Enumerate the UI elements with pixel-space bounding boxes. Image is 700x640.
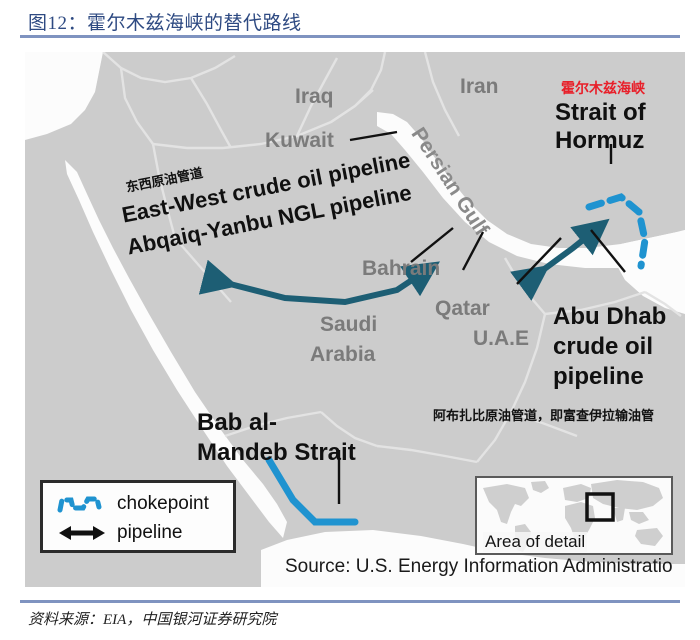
figure-title: 图12：霍尔木兹海峡的替代路线 [28,8,302,35]
map-label-hormuz-cn: 霍尔木兹海峡 [561,82,645,97]
map-label-bab-line2: Mandeb Strait [197,440,356,465]
map-label-qatar: Qatar [435,298,490,320]
map-label-abu-dhabi-line3: pipeline [553,364,644,389]
map-label-uae: U.A.E [473,328,529,350]
legend-item-pipeline: pipeline [55,521,183,545]
map-label-bab-line1: Bab al- [197,410,277,435]
chokepoint-squiggle-icon [55,492,109,516]
map-label-hormuz-line1: Strait of [555,100,646,125]
map-label-abu-dhabi-cn: 阿布扎比原油管道，即富查伊拉输油管 [433,410,654,424]
title-divider-top [20,35,680,38]
map-label-iran: Iran [460,76,499,98]
source-divider-bottom [20,600,680,603]
legend-label-pipeline: pipeline [117,522,183,544]
map-label-iraq: Iraq [295,86,334,108]
map-source-attribution: Source: U.S. Energy Information Administ… [285,557,673,577]
map-label-saudi-line2: Arabia [310,344,375,366]
map-label-bahrain: Bahrain [362,258,440,280]
map-label-hormuz-line2: Hormuz [555,128,644,153]
double-arrow-icon [55,521,109,545]
map-figure: Iraq Kuwait Iran Bahrain Qatar U.A.E Sau… [25,52,685,587]
map-label-saudi-line1: Saudi [320,314,377,336]
figure-source-note: 资料来源：EIA，中国银河证券研究院 [28,608,276,629]
legend-item-chokepoint: chokepoint [55,492,209,516]
map-label-kuwait: Kuwait [265,130,334,152]
legend-label-chokepoint: chokepoint [117,493,209,515]
map-label-abu-dhabi-line2: crude oil [553,334,653,359]
inset-caption: Area of detail [483,532,587,552]
map-legend: chokepoint pipeline [40,480,236,553]
inset-world-map: Area of detail [475,476,673,555]
map-label-abu-dhabi-line1: Abu Dhab [553,304,666,329]
